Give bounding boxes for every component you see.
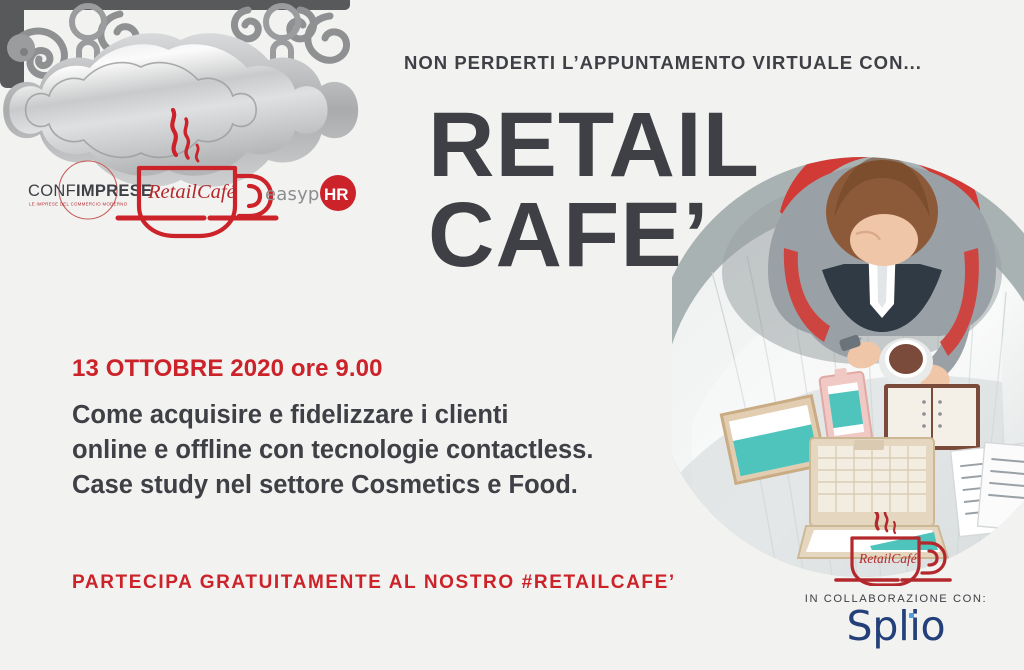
- face: [850, 214, 918, 266]
- eyebrow-text: NON PERDERTI L’APPUNTAMENTO VIRTUALE CON…: [404, 52, 922, 74]
- collaboration-lockup: RetailCafé IN COLLABORAZIONE CON: Splio: [796, 512, 996, 648]
- event-date-time: 13 OTTOBRE 2020 ore 9.00: [72, 355, 383, 383]
- logo-retailcafe-collab: RetailCafé: [796, 512, 996, 586]
- cta-text: PARTECIPA GRATUITAMENTE AL NOSTRO #RETAI…: [72, 572, 676, 594]
- splio-logo: Splio: [847, 605, 946, 648]
- retailcafe-wordmark-collab: RetailCafé: [858, 551, 918, 566]
- event-description: Come acquisire e fidelizzare i clienti o…: [72, 398, 722, 504]
- retailcafe-wordmark-sign: RetailCafé: [147, 181, 237, 203]
- hanging-sign: CONFIMPRESE LE IMPRESE DEL COMMERCIO MOD…: [0, 0, 400, 330]
- confimprese-name-light: CONF: [28, 182, 76, 200]
- splio-wordmark: Splio: [847, 602, 946, 650]
- confimprese-wordmark: CONFIMPRESE: [28, 182, 152, 200]
- poster-canvas: CONFIMPRESE LE IMPRESE DEL COMMERCIO MOD…: [0, 0, 1024, 665]
- easypay-hr-label: HR: [324, 185, 349, 204]
- logo-easypay-hr: easypay HR: [265, 175, 356, 211]
- coffee-cup: [879, 338, 933, 386]
- tablet-card: [818, 365, 872, 448]
- hanging-sign-graphic: CONFIMPRESE LE IMPRESE DEL COMMERCIO MOD…: [0, 0, 400, 330]
- splio-dot-accent: [909, 613, 914, 618]
- confimprese-tagline: LE IMPRESE DEL COMMERCIO MODERNO: [29, 202, 128, 207]
